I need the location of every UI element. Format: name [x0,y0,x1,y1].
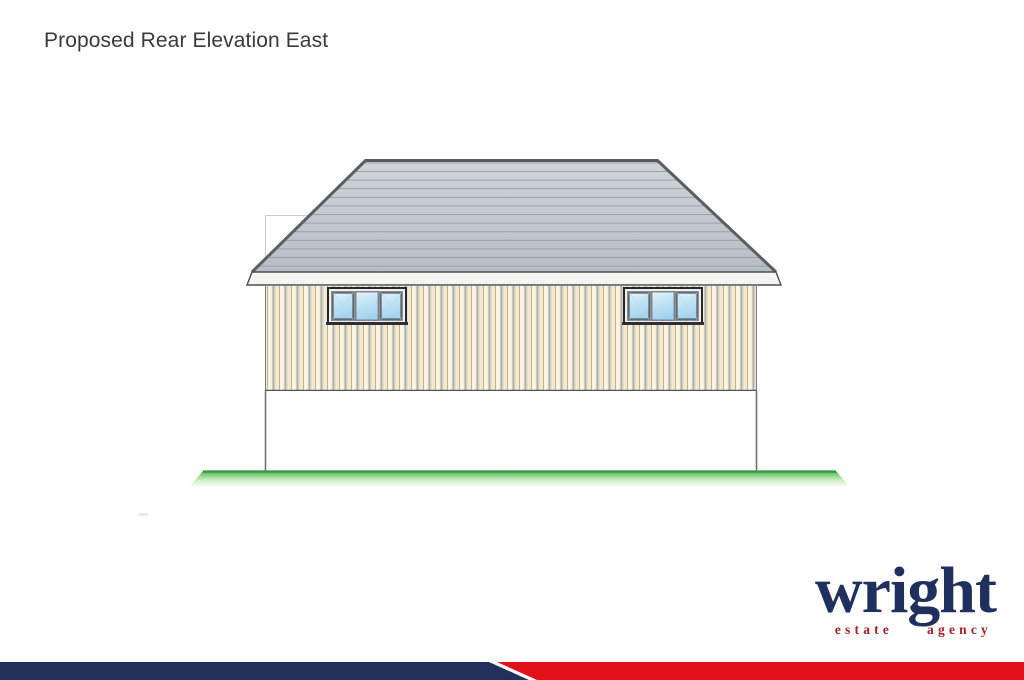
fascia-band [247,272,781,285]
footer-bar [0,662,1024,680]
window-pane-right [381,293,401,319]
ground-strip [190,471,849,486]
brand-logo: wright estateagency [815,561,996,636]
brand-wordmark: wright [815,561,996,622]
window-pane-centre [356,292,378,320]
brand-tagline-right: agency [927,622,992,637]
window-pane-right [677,293,697,319]
brand-tagline: estateagency [815,623,992,637]
footer-red-band [489,662,1024,680]
brand-tagline-left: estate [835,622,893,637]
right-window[interactable] [622,288,704,325]
footer-navy-band [0,662,537,680]
footer-bar-graphic [0,662,1024,680]
window-pane-centre [652,292,674,320]
elevation-drawing [0,0,1024,600]
window-pane-left [333,293,353,319]
window-pane-left [629,293,649,319]
left-window[interactable] [326,288,408,325]
stray-mark [139,513,148,516]
lower-wall-plinth [265,391,757,480]
roof [250,158,780,276]
